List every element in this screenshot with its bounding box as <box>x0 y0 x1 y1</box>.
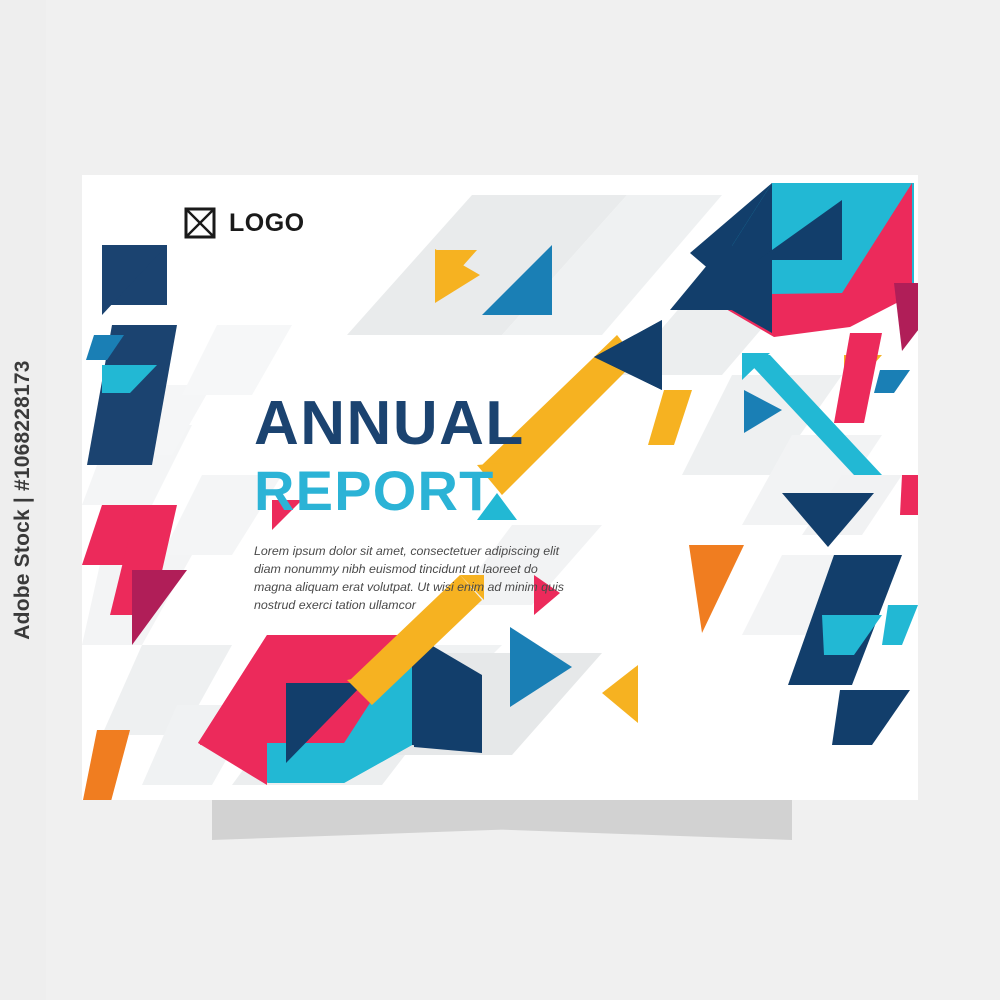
poster-drop-shadow <box>212 793 792 840</box>
body-paragraph: Lorem ipsum dolor sit amet, consectetuer… <box>254 543 564 615</box>
headline-block: ANNUAL REPORT <box>254 393 525 521</box>
page-title-line2: REPORT <box>254 461 525 521</box>
page-title-line1: ANNUAL <box>254 393 525 455</box>
watermark-label: Adobe Stock | #1068228173 <box>11 360 35 639</box>
annual-report-poster: LOGO ANNUAL REPORT Lorem ipsum dolor sit… <box>82 175 918 800</box>
logo-block: LOGO <box>184 207 305 239</box>
screenshot-stage: LOGO ANNUAL REPORT Lorem ipsum dolor sit… <box>0 0 1000 1000</box>
adobe-stock-watermark-strip: Adobe Stock | #1068228173 <box>0 0 46 1000</box>
logo-text: LOGO <box>229 209 305 238</box>
crossed-square-placeholder-icon <box>184 207 216 239</box>
bottom-left-cluster <box>198 635 482 787</box>
